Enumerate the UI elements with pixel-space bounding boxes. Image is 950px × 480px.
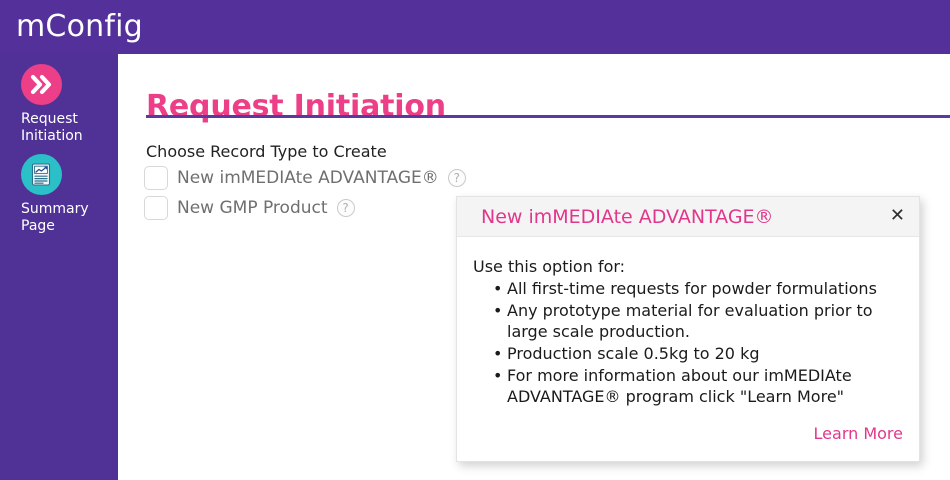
- choose-record-type-label: Choose Record Type to Create: [146, 142, 387, 161]
- list-item: Any prototype material for evaluation pr…: [507, 300, 903, 342]
- title-divider: [146, 115, 950, 118]
- popup-header: New imMEDIAte ADVANTAGE® ✕: [457, 197, 919, 237]
- record-type-option-gmp-product[interactable]: New GMP Product ?: [144, 196, 355, 220]
- info-popup: New imMEDIAte ADVANTAGE® ✕ Use this opti…: [456, 196, 920, 462]
- popup-intro-text: Use this option for:: [473, 257, 903, 276]
- record-type-option-immediate-advantage[interactable]: New imMEDIAte ADVANTAGE® ?: [144, 166, 466, 190]
- question-mark-icon[interactable]: ?: [337, 199, 355, 217]
- close-icon[interactable]: ✕: [890, 205, 905, 227]
- question-mark-icon[interactable]: ?: [448, 169, 466, 187]
- popup-body: Use this option for: All first-time requ…: [457, 237, 919, 461]
- sidebar-item-label: Summary Page: [21, 201, 113, 235]
- app-title: mConfig: [16, 8, 143, 46]
- checkbox-new-gmp-product[interactable]: [144, 196, 168, 220]
- sidebar: Request Initiation Summary Page: [0, 54, 118, 480]
- page-title: Request Initiation: [146, 89, 446, 124]
- popup-title: New imMEDIAte ADVANTAGE®: [481, 206, 774, 228]
- sidebar-item-label: Request Initiation: [21, 111, 113, 145]
- popup-bullet-list: All first-time requests for powder formu…: [473, 278, 903, 407]
- document-chart-icon: [21, 154, 62, 195]
- sidebar-item-request-initiation[interactable]: Request Initiation: [0, 64, 118, 145]
- checkbox-new-immediate-advantage[interactable]: [144, 166, 168, 190]
- sidebar-item-summary-page[interactable]: Summary Page: [0, 154, 118, 235]
- list-item: For more information about our imMEDIAte…: [507, 365, 903, 407]
- option-label: New GMP Product: [177, 198, 328, 218]
- list-item: Production scale 0.5kg to 20 kg: [507, 343, 903, 364]
- option-label: New imMEDIAte ADVANTAGE®: [177, 168, 439, 188]
- double-chevron-right-icon: [21, 64, 62, 105]
- list-item: All first-time requests for powder formu…: [507, 278, 903, 299]
- learn-more-link[interactable]: Learn More: [814, 424, 903, 443]
- app-header: mConfig: [0, 0, 950, 54]
